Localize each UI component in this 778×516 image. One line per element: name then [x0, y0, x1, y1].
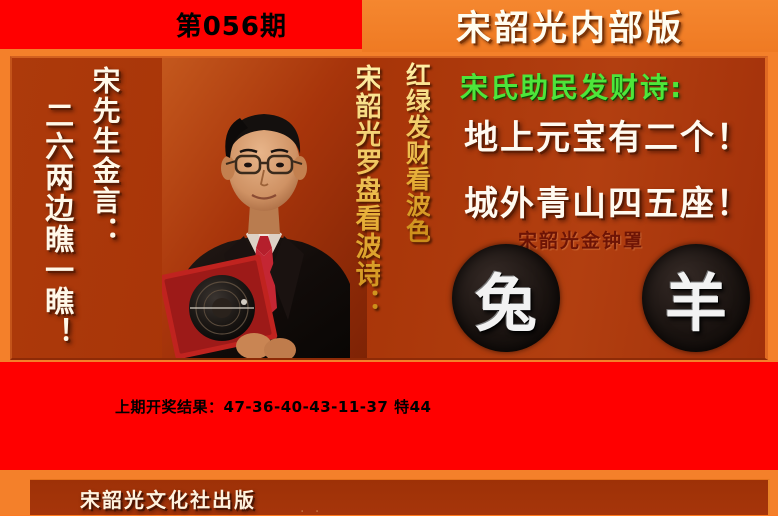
main-panel: 宋先生金言： 二六两边瞧一瞧！ 宋韶光罗盘看波诗： 红绿发财看波色 宋氏助民发财… [10, 56, 768, 360]
publisher-label: 宋韶光文化社出版 [80, 484, 256, 513]
issue-number: 第056期 [0, 0, 362, 49]
master-photo [162, 58, 367, 358]
zodiac-glyph-goat: 羊 [665, 253, 727, 343]
zodiac-circle-goat: 羊 [642, 244, 750, 352]
zodiac-glyph-rabbit: 兔 [475, 253, 537, 343]
slogan-master-title: 宋先生金言： [90, 66, 119, 246]
zodiac-circle-rabbit: 兔 [452, 244, 560, 352]
slogan-master-line: 二六两边瞧一瞧！ [42, 100, 72, 348]
poem-heading: 宋氏助民发财诗: [460, 66, 683, 106]
zodiac-row: 兔 羊 [452, 244, 752, 356]
last-draw-result: 上期开奖结果：47-36-40-43-11-37 特44 [115, 396, 431, 417]
result-band: 上期开奖结果：47-36-40-43-11-37 特44 [0, 362, 778, 470]
panel-edge-left [0, 56, 10, 360]
master-photo-illustration [162, 58, 367, 358]
brand-title: 宋韶光内部版 [362, 0, 778, 50]
footer-dots: . . [300, 500, 322, 516]
slogan-compass-title: 宋韶光罗盘看波诗： [352, 64, 380, 316]
panel-edge-right [768, 56, 778, 360]
footer: 宋韶光文化社出版 . . [0, 470, 778, 515]
poem-line-1: 地上元宝有二个！ [464, 110, 752, 159]
slogan-compass-line: 红绿发财看波色 [404, 62, 430, 244]
poem-line-2: 城外青山四五座！ [464, 176, 752, 225]
header: 第056期 宋韶光内部版 [0, 0, 778, 52]
poster-root: 第056期 宋韶光内部版 [0, 0, 778, 515]
